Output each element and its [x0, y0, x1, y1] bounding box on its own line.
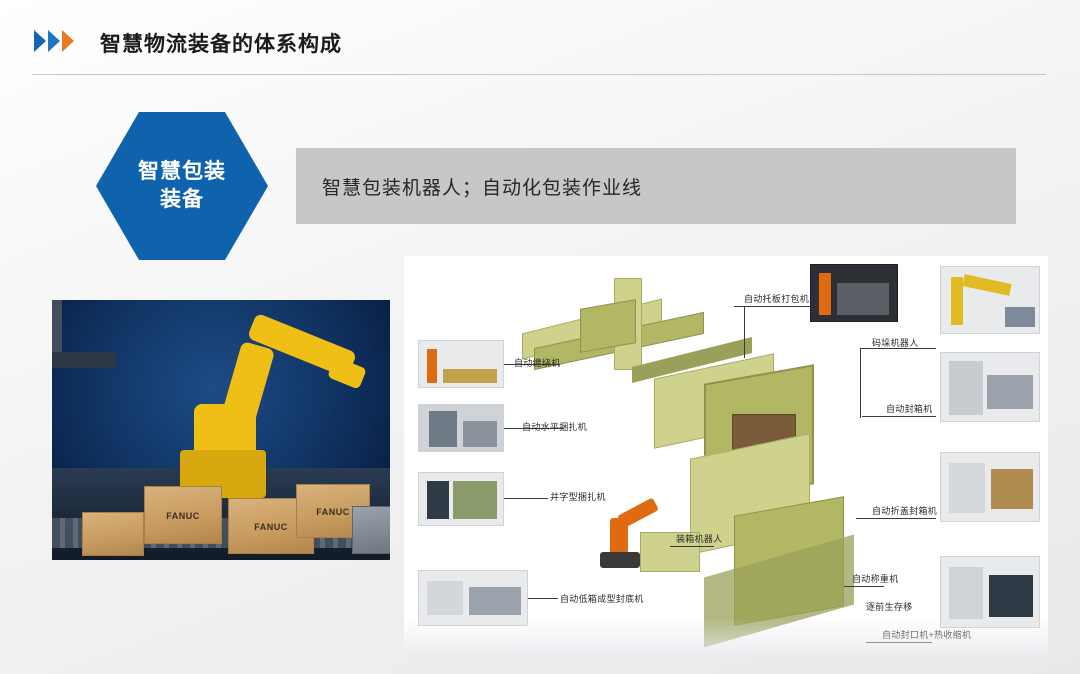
leader-line [670, 546, 714, 547]
label-auto-horizontal-strapper: 自动水平捆扎机 [522, 420, 587, 433]
packaging-line-diagram: 自动缠绕机 自动水平捆扎机 井字型捆扎机 自动低箱成型封底机 自动托板打包机 装… [404, 256, 1048, 658]
leader-line [862, 416, 936, 417]
chevron-right-icon [48, 30, 60, 52]
label-cross-type-strapper: 井字型捆扎机 [550, 490, 606, 503]
badge-label-line2: 装备 [160, 186, 204, 214]
category-badge: 智慧包装 装备 [96, 112, 268, 260]
leader-line [856, 518, 936, 519]
leader-line [860, 348, 861, 418]
carton-box [82, 512, 144, 556]
box-loading-robot-base [600, 552, 640, 568]
page-title: 智慧物流装备的体系构成 [100, 28, 342, 58]
stretch-wrapper-thumbnail [418, 340, 504, 388]
header-divider [32, 74, 1046, 75]
label-box-loading-robot: 装箱机器人 [676, 532, 723, 545]
robot-photo: FANUC FANUC FANUC [52, 300, 390, 560]
caption-text: 智慧包装机器人；自动化包装作业线 [296, 173, 642, 200]
leader-line [504, 498, 548, 499]
label-palletizing-robot: 码垛机器人 [872, 336, 919, 349]
carton-label: FANUC [254, 522, 288, 532]
leader-line [528, 598, 558, 599]
box-loading-robot-forearm [617, 497, 659, 528]
robot-gripper-arm-right [52, 326, 62, 352]
pallet-strapper-thumbnail [810, 264, 898, 322]
carton-label: FANUC [166, 511, 200, 521]
chevron-right-icon [62, 30, 74, 52]
chevron-group-icon [34, 30, 74, 52]
cross-strapper-thumbnail [418, 472, 504, 526]
robot-gripper [52, 352, 116, 368]
diagram-bottom-fade [404, 618, 1048, 658]
slide-header: 智慧物流装备的体系构成 [0, 0, 1080, 78]
robot-wrist [327, 356, 367, 389]
horizontal-strapper-thumbnail [418, 404, 504, 452]
leader-line [734, 306, 810, 307]
leader-line [744, 306, 745, 358]
label-auto-carton-sealer: 自动封箱机 [886, 402, 933, 415]
label-auto-labeling-machine: 逐前生存移 [866, 600, 913, 613]
badge-label-line1: 智慧包装 [138, 158, 226, 186]
label-auto-stretch-wrapper: 自动缠绕机 [514, 356, 561, 369]
label-auto-weighing-machine: 自动称重机 [852, 572, 899, 585]
chevron-right-icon [34, 30, 46, 52]
palletizing-robot-thumbnail [940, 266, 1040, 334]
caption-bar: 智慧包装机器人；自动化包装作业线 [296, 148, 1016, 224]
label-auto-fold-lid-sealer: 自动折盖封箱机 [872, 504, 937, 517]
label-auto-pallet-strapper: 自动托板打包机 [744, 292, 809, 305]
robot-gripper-arm-left [52, 300, 62, 326]
grey-bin [352, 506, 390, 554]
hexagon-shape: 智慧包装 装备 [96, 112, 268, 260]
carton-box: FANUC [144, 486, 222, 544]
leader-line [844, 586, 884, 587]
label-auto-low-forming-sealer: 自动低箱成型封底机 [560, 592, 644, 605]
carton-label: FANUC [316, 507, 350, 517]
carton-sealer-thumbnail [940, 352, 1040, 422]
fold-lid-sealer-thumbnail [940, 452, 1040, 522]
